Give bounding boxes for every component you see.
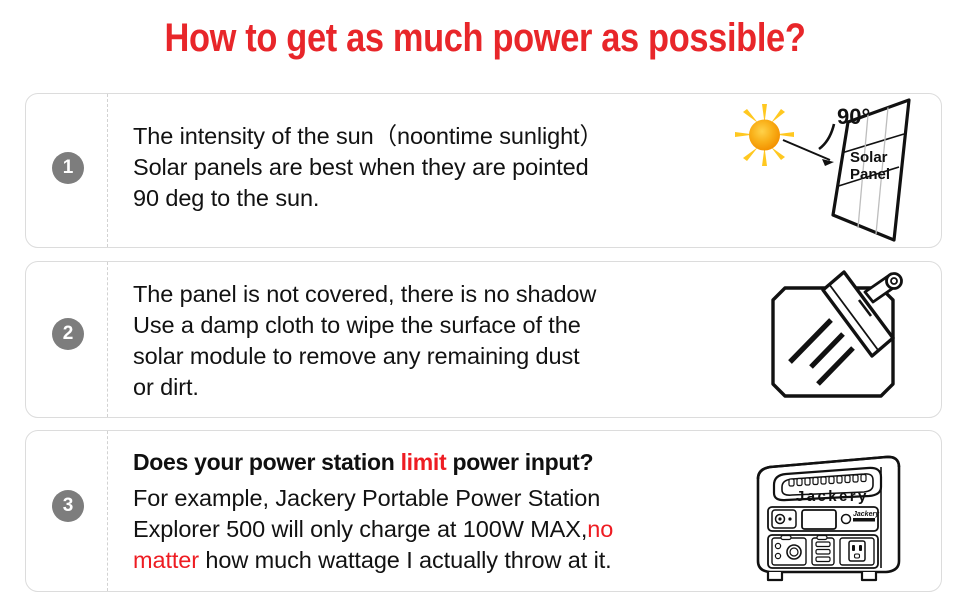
step-number-badge: 3 bbox=[52, 490, 84, 522]
tip-card-3-body-line-2: Explorer 500 will only charge at 100W MA… bbox=[133, 514, 613, 545]
sun-disc-icon bbox=[749, 120, 780, 151]
tip-card-2-line-1: The panel is not covered, there is no sh… bbox=[133, 279, 596, 310]
solar-panel-label-line1: Solar bbox=[850, 149, 888, 166]
tip-card-1-line-2: Solar panels are best when they are poin… bbox=[133, 152, 603, 183]
tip-card-3-heading-part1: Does your power station bbox=[133, 449, 401, 475]
tip-card-3-heading: Does your power station limit power inpu… bbox=[133, 447, 593, 477]
jackery-brand-label: Jackery bbox=[796, 488, 869, 505]
tip-card-3-body-line-3-red: matter bbox=[133, 547, 199, 573]
squeegee-cleaning-panel-illustration bbox=[741, 262, 941, 417]
step-number-badge: 1 bbox=[52, 152, 84, 184]
tip-card-1: 1 The intensity of the sun（noontime sunl… bbox=[25, 93, 942, 248]
tip-card-2-line-2: Use a damp cloth to wipe the surface of … bbox=[133, 310, 596, 341]
jackery-power-station-illustration: Jackery Jackery bbox=[736, 431, 941, 591]
card-divider bbox=[107, 94, 108, 247]
jackery-badge-bar bbox=[853, 518, 875, 522]
tip-card-2-text: The panel is not covered, there is no sh… bbox=[133, 279, 596, 403]
tip-card-1-line-3: 90 deg to the sun. bbox=[133, 183, 603, 214]
jackery-badge-label: Jackery bbox=[853, 511, 880, 518]
solar-panel-label-line2: Panel bbox=[850, 166, 890, 183]
tip-card-2: 2 The panel is not covered, there is no … bbox=[25, 261, 942, 418]
tip-card-3-body-line-2-black: Explorer 500 will only charge at 100W MA… bbox=[133, 516, 587, 542]
tip-card-3-heading-highlight: limit bbox=[401, 449, 447, 475]
display-screen bbox=[802, 510, 836, 529]
angle-arc bbox=[819, 124, 834, 149]
tip-card-1-text: The intensity of the sun（noontime sunlig… bbox=[133, 121, 603, 214]
tip-card-3-body: For example, Jackery Portable Power Stat… bbox=[133, 483, 613, 576]
sun-ray-arrow-line bbox=[783, 140, 830, 160]
tip-card-3: 3 Does your power station limit power in… bbox=[25, 430, 942, 592]
tip-card-3-body-line-2-red: no bbox=[587, 516, 613, 542]
page-title: How to get as much power as possible? bbox=[68, 14, 902, 62]
sun-angle-solar-panel-illustration: 90° Solar Panel bbox=[726, 94, 941, 247]
tip-card-2-line-3: solar module to remove any remaining dus… bbox=[133, 341, 596, 372]
card-divider bbox=[107, 431, 108, 591]
step-number-badge: 2 bbox=[52, 318, 84, 350]
card-divider bbox=[107, 262, 108, 417]
angle-label: 90° bbox=[837, 104, 870, 129]
tip-card-3-body-line-3-black: how much wattage I actually throw at it. bbox=[199, 547, 612, 573]
tip-card-3-body-line-3: matter how much wattage I actually throw… bbox=[133, 545, 613, 576]
tip-card-1-line-1: The intensity of the sun（noontime sunlig… bbox=[133, 121, 603, 152]
foot-left bbox=[768, 572, 782, 580]
foot-right bbox=[862, 572, 876, 580]
tip-card-3-heading-part2: power input? bbox=[446, 449, 593, 475]
power-button bbox=[842, 515, 851, 524]
tip-card-3-body-line-1: For example, Jackery Portable Power Stat… bbox=[133, 483, 613, 514]
tip-card-2-line-4: or dirt. bbox=[133, 372, 596, 403]
